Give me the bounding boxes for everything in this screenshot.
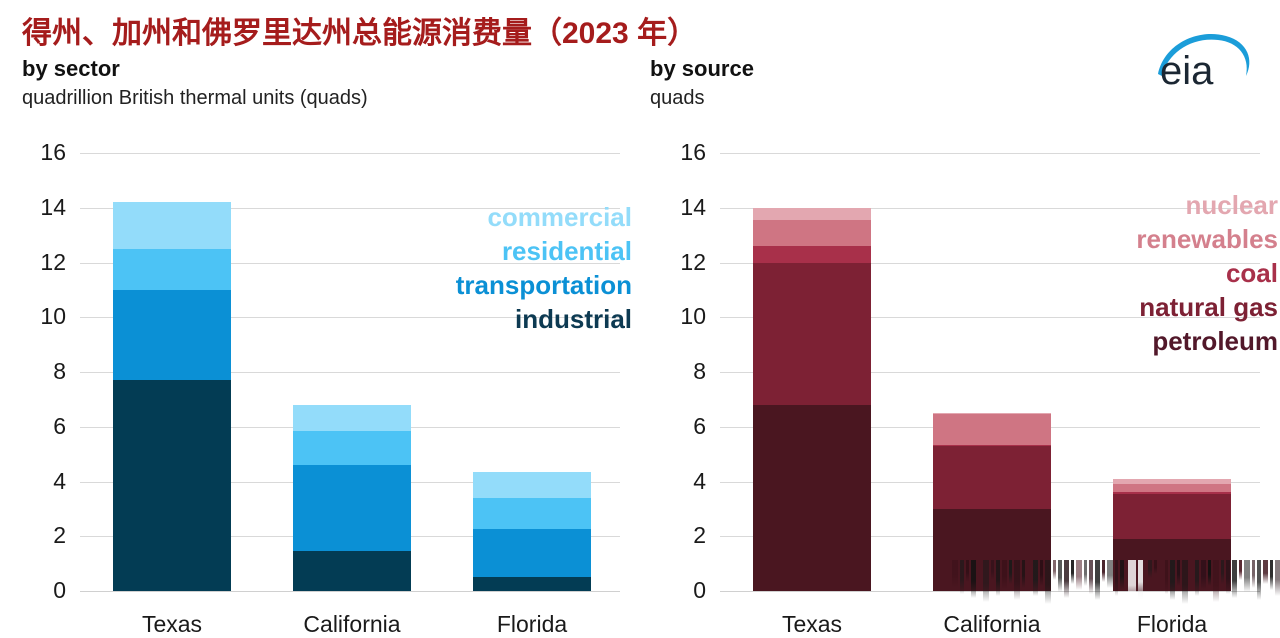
bar-segment-petroleum[interactable] [1113, 539, 1231, 591]
bar-california[interactable] [293, 405, 411, 591]
legend-item-coal[interactable]: coal [1136, 256, 1278, 290]
bar-segment-natural-gas[interactable] [753, 263, 871, 405]
bar-segment-renewables[interactable] [1113, 484, 1231, 492]
x-axis-label-florida: Florida [432, 611, 632, 638]
chart-by-source: 0246810121416TexasCaliforniaFlorida nucl… [640, 140, 1280, 620]
bar-segment-industrial[interactable] [473, 577, 591, 591]
left-panel-units: quadrillion British thermal units (quads… [22, 85, 368, 111]
bar-segment-industrial[interactable] [113, 380, 231, 591]
gridline [80, 591, 620, 592]
bar-segment-industrial[interactable] [293, 551, 411, 591]
y-axis-tick-label: 0 [20, 579, 66, 602]
eia-logo-svg: eia [1154, 26, 1264, 92]
bar-segment-petroleum[interactable] [933, 509, 1051, 591]
eia-logo: eia [1154, 26, 1264, 92]
y-axis-tick-label: 16 [20, 141, 66, 164]
y-axis-tick-label: 4 [660, 470, 706, 493]
bar-california[interactable] [933, 413, 1051, 591]
chart-by-sector: 0246810121416TexasCaliforniaFlorida comm… [0, 140, 640, 620]
bar-segment-natural-gas[interactable] [1113, 494, 1231, 539]
bar-texas[interactable] [753, 208, 871, 591]
y-axis-tick-label: 0 [660, 579, 706, 602]
y-axis-tick-label: 8 [660, 360, 706, 383]
y-axis-tick-label: 14 [20, 196, 66, 219]
bar-texas[interactable] [113, 202, 231, 591]
bar-segment-transportation[interactable] [113, 290, 231, 380]
bar-segment-transportation[interactable] [473, 529, 591, 577]
left-panel-heading: by sector quadrillion British thermal un… [22, 56, 368, 111]
y-axis-tick-label: 16 [660, 141, 706, 164]
legend-item-transportation[interactable]: transportation [456, 268, 632, 302]
bar-segment-commercial[interactable] [473, 472, 591, 498]
y-axis-tick-label: 6 [660, 415, 706, 438]
y-axis-tick-label: 4 [20, 470, 66, 493]
legend-item-commercial[interactable]: commercial [456, 200, 632, 234]
y-axis-tick-label: 14 [660, 196, 706, 219]
gridline [720, 153, 1260, 154]
legend-by-source: nuclearrenewablescoalnatural gaspetroleu… [1136, 188, 1278, 358]
bar-segment-residential[interactable] [113, 249, 231, 290]
eia-wordmark: eia [1160, 49, 1214, 92]
right-panel-heading: by source quads [650, 56, 754, 111]
bar-segment-nuclear[interactable] [1113, 479, 1231, 484]
x-axis-label-florida: Florida [1072, 611, 1272, 638]
y-axis-tick-label: 2 [660, 524, 706, 547]
legend-item-renewables[interactable]: renewables [1136, 222, 1278, 256]
gridline [80, 153, 620, 154]
legend-item-natural-gas[interactable]: natural gas [1136, 290, 1278, 324]
bar-segment-residential[interactable] [473, 498, 591, 529]
bar-segment-commercial[interactable] [113, 202, 231, 249]
bar-segment-nuclear[interactable] [933, 413, 1051, 414]
bar-segment-petroleum[interactable] [753, 405, 871, 591]
gridline [720, 591, 1260, 592]
right-panel-subtitle: by source [650, 56, 754, 82]
page-title: 得州、加州和佛罗里达州总能源消费量（2023 年） [22, 8, 697, 52]
x-axis-label-texas: Texas [712, 611, 912, 638]
bar-segment-transportation[interactable] [293, 465, 411, 551]
x-axis-label-california: California [892, 611, 1092, 638]
y-axis-tick-label: 10 [660, 305, 706, 328]
legend-item-petroleum[interactable]: petroleum [1136, 324, 1278, 358]
legend-item-residential[interactable]: residential [456, 234, 632, 268]
bar-segment-renewables[interactable] [933, 414, 1051, 444]
left-panel-subtitle: by sector [22, 56, 368, 82]
y-axis-tick-label: 12 [660, 251, 706, 274]
bar-segment-coal[interactable] [753, 246, 871, 262]
y-axis-tick-label: 8 [20, 360, 66, 383]
x-axis-label-california: California [252, 611, 452, 638]
bar-segment-commercial[interactable] [293, 405, 411, 431]
y-axis-tick-label: 10 [20, 305, 66, 328]
y-axis-tick-label: 2 [20, 524, 66, 547]
x-axis-label-texas: Texas [72, 611, 272, 638]
bar-florida[interactable] [473, 472, 591, 591]
bar-segment-natural-gas[interactable] [933, 446, 1051, 509]
chart-header: 得州、加州和佛罗里达州总能源消费量（2023 年） by sector quad… [0, 0, 1280, 128]
bar-segment-coal[interactable] [1113, 492, 1231, 493]
y-axis-tick-label: 12 [20, 251, 66, 274]
bar-segment-residential[interactable] [293, 431, 411, 465]
legend-item-industrial[interactable]: industrial [456, 302, 632, 336]
legend-by-sector: commercialresidentialtransportationindus… [456, 200, 632, 336]
bar-segment-renewables[interactable] [753, 220, 871, 246]
right-panel-units: quads [650, 85, 754, 111]
bar-segment-coal[interactable] [933, 445, 1051, 446]
bar-florida[interactable] [1113, 479, 1231, 591]
bar-segment-nuclear[interactable] [753, 208, 871, 220]
legend-item-nuclear[interactable]: nuclear [1136, 188, 1278, 222]
y-axis-tick-label: 6 [20, 415, 66, 438]
